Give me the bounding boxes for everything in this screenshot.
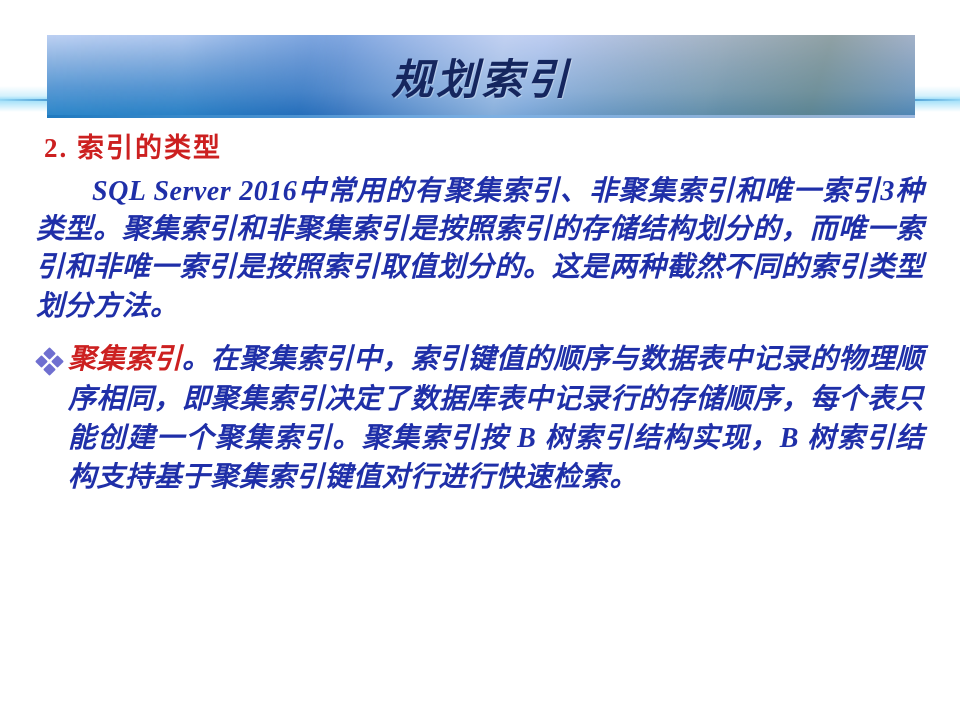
presentation-slide: 规划索引 2. 索引的类型 SQL Server 2016中常用的有聚集索引、非… [0, 0, 960, 720]
section-subheading: 2. 索引的类型 [44, 131, 960, 167]
slide-title-area: 规划索引 [0, 30, 960, 125]
diamond-cluster-bullet-icon [36, 349, 66, 375]
bullet-lead-term: 聚集索引 [68, 344, 182, 375]
bullet-item: 聚集索引。在聚集索引中，索引键值的顺序与数据表中记录的物理顺序相同，即聚集索引决… [36, 340, 924, 498]
bullet-body-text: 。在聚集索引中，索引键值的顺序与数据表中记录的物理顺序相同，即聚集索引决定了数据… [68, 344, 924, 493]
page-title: 规划索引 [47, 35, 915, 118]
intro-paragraph: SQL Server 2016中常用的有聚集索引、非聚集索引和唯一索引3种类型。… [36, 173, 924, 326]
bullet-item-text: 聚集索引。在聚集索引中，索引键值的顺序与数据表中记录的物理顺序相同，即聚集索引决… [68, 340, 924, 498]
slide-body: 2. 索引的类型 SQL Server 2016中常用的有聚集索引、非聚集索引和… [0, 131, 960, 498]
intro-paragraph-text: SQL Server 2016中常用的有聚集索引、非聚集索引和唯一索引3种类型。… [36, 176, 924, 322]
